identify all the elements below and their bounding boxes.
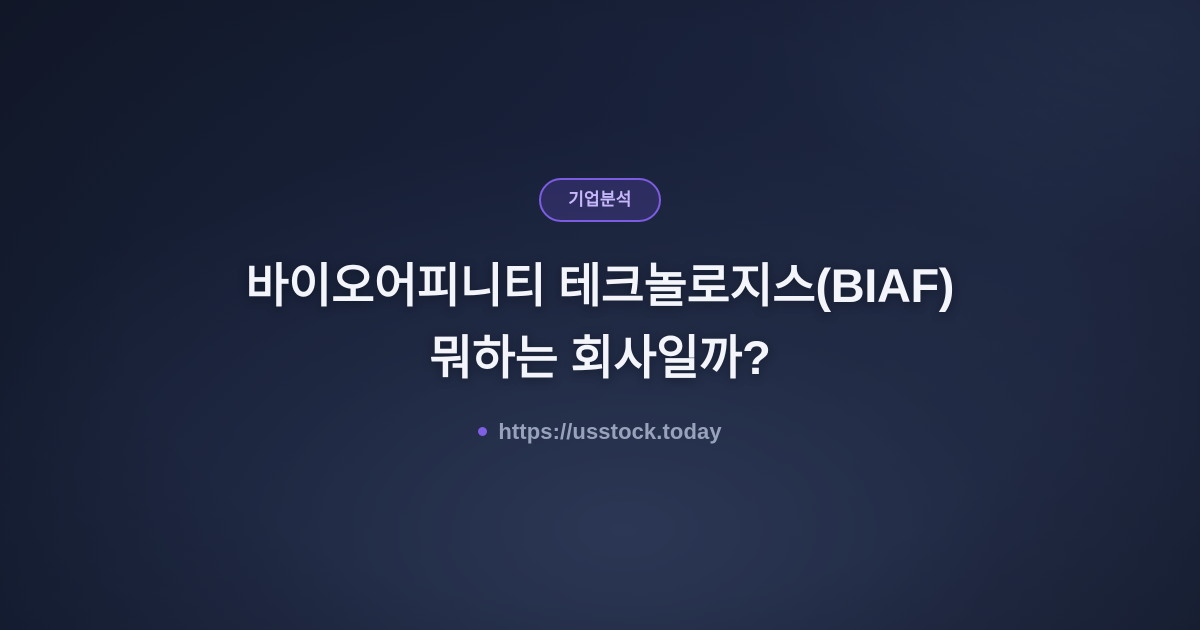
og-share-card: 기업분석 바이오어피니티 테크놀로지스(BIAF) 뭐하는 회사일까? http… bbox=[0, 0, 1200, 630]
site-url: https://usstock.today bbox=[478, 419, 721, 445]
site-url-text: https://usstock.today bbox=[498, 419, 721, 445]
category-badge: 기업분석 bbox=[539, 178, 660, 222]
page-title-line-2: 뭐하는 회사일까? bbox=[246, 322, 954, 394]
card-content: 기업분석 바이오어피니티 테크놀로지스(BIAF) 뭐하는 회사일까? http… bbox=[70, 178, 1130, 445]
page-title: 바이오어피니티 테크놀로지스(BIAF) 뭐하는 회사일까? bbox=[246, 250, 954, 394]
bullet-dot-icon bbox=[478, 427, 487, 436]
page-title-line-1: 바이오어피니티 테크놀로지스(BIAF) bbox=[246, 250, 954, 322]
